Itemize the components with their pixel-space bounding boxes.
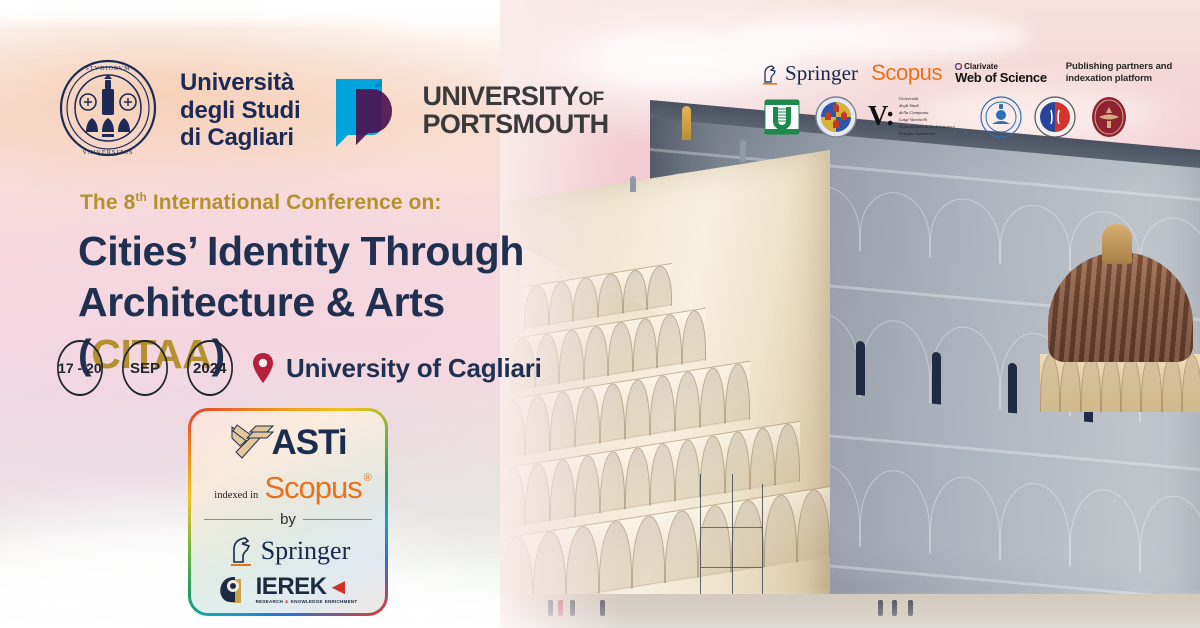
springer-label: Springer	[261, 536, 351, 566]
asti-scopus-springer-ierek-badge: ASTi indexed in Scopus® by Springe	[188, 408, 388, 616]
portsmouth-wordmark: UNIVERSITYOF PORTSMOUTH	[422, 83, 608, 139]
tagline-word-3: KNOWLEDGE	[291, 599, 323, 604]
portsmouth-mark-icon	[334, 71, 406, 151]
rooftop-statue	[682, 106, 691, 140]
cagliari-line-2: degli Studi	[180, 97, 300, 125]
university-seal-maroon-logo	[1087, 95, 1131, 139]
university-crest-shield-logo	[814, 95, 858, 139]
university-seal-blue-logo	[979, 95, 1023, 139]
springer-logo: Springer	[760, 61, 858, 86]
asti-logo: ASTi	[229, 420, 346, 466]
cagliari-line-1: Università	[180, 69, 300, 97]
springer-knight-icon	[226, 534, 254, 568]
rooftop-pinnacle	[630, 176, 636, 192]
springer-badge-logo: Springer	[226, 534, 351, 568]
date-year-label: 2024	[193, 360, 226, 377]
svg-text:VNIVERSITAS: VNIVERSITAS	[82, 149, 133, 156]
vanvitelli-line-3: della Campania	[899, 110, 955, 117]
divider-line-right	[303, 519, 372, 521]
scopus-registered-mark: ®	[364, 472, 371, 484]
publisher-logos-row: Springer Scopus Clarivate Web of Science…	[760, 60, 1180, 86]
date-days-label: 17 - 20	[58, 360, 102, 376]
cagliari-line-3: di Cagliari	[180, 124, 300, 152]
date-month-badge: SEP	[122, 340, 168, 396]
location-pin-icon	[251, 352, 275, 384]
publishing-partners-note: Publishing partners and indexation platf…	[1066, 61, 1172, 85]
cloud	[730, 14, 1030, 60]
partner-logos: Springer Scopus Clarivate Web of Science…	[760, 60, 1180, 139]
date-month-label: SEP	[130, 360, 160, 377]
portsmouth-line-1-small: OF	[579, 89, 604, 110]
clarivate-icon	[955, 63, 962, 70]
tagline-word-4: ENRICHMENT	[325, 599, 358, 604]
universita-di-roma-tor-vergata-logo	[760, 95, 804, 139]
ierek-head-icon	[219, 575, 253, 605]
university-of-portsmouth-logo: UNIVERSITYOF PORTSMOUTH	[334, 71, 608, 151]
kicker-post: International Conference on:	[147, 191, 442, 214]
universita-della-campania-luigi-vanvitelli-logo: V: Università degli Studi della Campania…	[868, 96, 955, 137]
ierek-tagline: RESEARCH & KNOWLEDGE ENRICHMENT	[256, 599, 358, 604]
scopus-indexing: indexed in Scopus®	[214, 470, 361, 506]
tagline-word-1: RESEARCH	[256, 599, 283, 604]
vanvitelli-wordmark: Università degli Studi della Campania Lu…	[899, 96, 955, 137]
date-days-badge: 17 - 20	[57, 340, 103, 396]
kicker-ordinal: th	[135, 190, 147, 204]
note-line-2: indexation platform	[1066, 73, 1172, 85]
university-seal-red-blue-logo	[1033, 95, 1077, 139]
svg-text:STVDIORVM: STVDIORVM	[85, 65, 130, 72]
kicker-pre: The 8	[80, 191, 135, 214]
vanvitelli-line-5: Dipartimento di Architettura e	[899, 124, 955, 131]
header-logos: STVDIORVM VNIVERSITAS Università degli S…	[58, 58, 608, 163]
clarivate-web-of-science-logo: Clarivate Web of Science	[955, 63, 1047, 84]
cathedral-dome	[1030, 222, 1200, 422]
venue-label: University of Cagliari	[286, 353, 542, 384]
portsmouth-line-1-main: UNIVERSITY	[422, 81, 578, 111]
vanvitelli-line-2: degli Studi	[899, 103, 955, 110]
vanvitelli-line-6: Disegno Industriale	[899, 131, 955, 138]
vanvitelli-mark: V:	[868, 103, 895, 131]
springer-knight-icon	[760, 64, 780, 86]
by-divider: by	[204, 511, 372, 528]
divider-line-left	[204, 519, 273, 521]
springer-label: Springer	[785, 61, 858, 86]
vanvitelli-line-1: Università	[899, 96, 955, 103]
title-line-1: Cities’ Identity Through	[78, 226, 598, 277]
asti-wordmark: ASTi	[271, 423, 346, 463]
date-year-badge: 2024	[187, 340, 233, 396]
scopus-label: Scopus	[871, 60, 942, 86]
conference-kicker: The 8th International Conference on:	[80, 190, 441, 215]
ierek-logo: IEREK◄ RESEARCH & KNOWLEDGE ENRICHMENT	[219, 575, 358, 605]
universita-di-cagliari-seal: STVDIORVM VNIVERSITAS	[58, 58, 158, 163]
photo-bottom-fade	[500, 588, 1200, 628]
by-label: by	[280, 511, 296, 528]
conference-meta: 17 - 20 SEP 2024 University of Cagliari	[52, 340, 542, 396]
ierek-wordmark: IEREK◄	[256, 576, 358, 599]
vanvitelli-line-4: Luigi Vanvitelli	[899, 117, 955, 124]
university-partner-logos-row: V: Università degli Studi della Campania…	[760, 95, 1180, 139]
scopus-wordmark: Scopus®	[264, 470, 361, 506]
conference-banner: STVDIORVM VNIVERSITAS Università degli S…	[0, 0, 1200, 628]
cagliari-wordmark: Università degli Studi di Cagliari	[180, 69, 300, 152]
note-line-1: Publishing partners and	[1066, 61, 1172, 73]
ierek-arrow-icon: ◄	[328, 577, 349, 598]
rooftop-pinnacle	[740, 140, 746, 162]
web-of-science-label: Web of Science	[955, 71, 1047, 84]
asti-mark-icon	[229, 422, 275, 464]
portsmouth-line-2: PORTSMOUTH	[422, 111, 608, 139]
tagline-word-2: &	[285, 599, 289, 604]
indexed-in-label: indexed in	[214, 490, 258, 501]
